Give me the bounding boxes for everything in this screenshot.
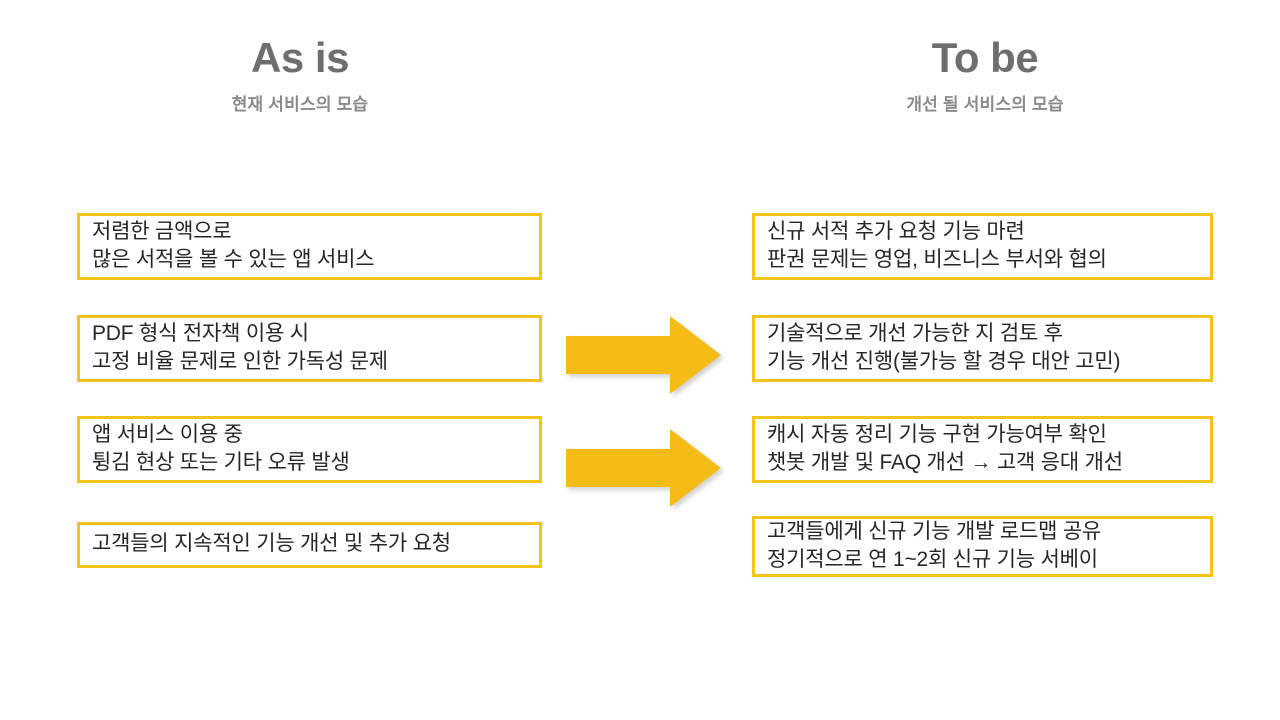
to-be-card-2: 기술적으로 개선 가능한 지 검토 후 기능 개선 진행(불가능 할 경우 대안…: [752, 315, 1213, 382]
as-is-title: As is: [60, 36, 540, 80]
as-is-card-2-line-2: 고정 비율 문제로 인한 가독성 문제: [92, 348, 527, 376]
right-arrow-icon-2: [566, 425, 726, 511]
to-be-card-1-line-2: 판권 문제는 영업, 비즈니스 부서와 협의: [767, 246, 1198, 274]
to-be-card-2-line-2: 기능 개선 진행(불가능 할 경우 대안 고민): [767, 348, 1198, 376]
to-be-card-1: 신규 서적 추가 요청 기능 마련 판권 문제는 영업, 비즈니스 부서와 협의: [752, 213, 1213, 280]
as-is-heading-group: As is 현재 서비스의 모습: [60, 36, 540, 115]
as-is-card-3-line-1: 앱 서비스 이용 중: [92, 421, 527, 449]
slide-canvas: As is 현재 서비스의 모습 To be 개선 될 서비스의 모습 저렴한 …: [0, 0, 1280, 720]
as-is-subtitle: 현재 서비스의 모습: [60, 90, 540, 115]
as-is-card-2-line-1: PDF 형식 전자책 이용 시: [92, 320, 527, 348]
as-is-card-1-line-1: 저렴한 금액으로: [92, 218, 527, 246]
right-arrow-icon-1: [566, 312, 726, 398]
as-is-card-1: 저렴한 금액으로 많은 서적을 볼 수 있는 앱 서비스: [77, 213, 542, 280]
to-be-card-4-line-1: 고객들에게 신규 기능 개발 로드맵 공유: [767, 518, 1198, 546]
as-is-card-4-line-1: 고객들의 지속적인 기능 개선 및 추가 요청: [92, 530, 527, 558]
as-is-card-1-line-2: 많은 서적을 볼 수 있는 앱 서비스: [92, 246, 527, 274]
as-is-card-3: 앱 서비스 이용 중 튕김 현상 또는 기타 오류 발생: [77, 416, 542, 483]
to-be-card-2-line-1: 기술적으로 개선 가능한 지 검토 후: [767, 320, 1198, 348]
to-be-card-1-line-1: 신규 서적 추가 요청 기능 마련: [767, 218, 1198, 246]
as-is-card-4: 고객들의 지속적인 기능 개선 및 추가 요청: [77, 522, 542, 568]
to-be-card-3: 캐시 자동 정리 기능 구현 가능여부 확인 챗봇 개발 및 FAQ 개선 → …: [752, 416, 1213, 483]
to-be-heading-group: To be 개선 될 서비스의 모습: [745, 36, 1225, 115]
to-be-card-4-line-2: 정기적으로 연 1~2회 신규 기능 서베이: [767, 546, 1198, 574]
to-be-subtitle: 개선 될 서비스의 모습: [745, 90, 1225, 115]
to-be-card-4: 고객들에게 신규 기능 개발 로드맵 공유 정기적으로 연 1~2회 신규 기능…: [752, 516, 1213, 577]
as-is-card-2: PDF 형식 전자책 이용 시 고정 비율 문제로 인한 가독성 문제: [77, 315, 542, 382]
to-be-title: To be: [745, 36, 1225, 80]
as-is-card-3-line-2: 튕김 현상 또는 기타 오류 발생: [92, 449, 527, 477]
to-be-card-3-line-2: 챗봇 개발 및 FAQ 개선 → 고객 응대 개선: [767, 449, 1198, 477]
to-be-card-3-line-1: 캐시 자동 정리 기능 구현 가능여부 확인: [767, 421, 1198, 449]
